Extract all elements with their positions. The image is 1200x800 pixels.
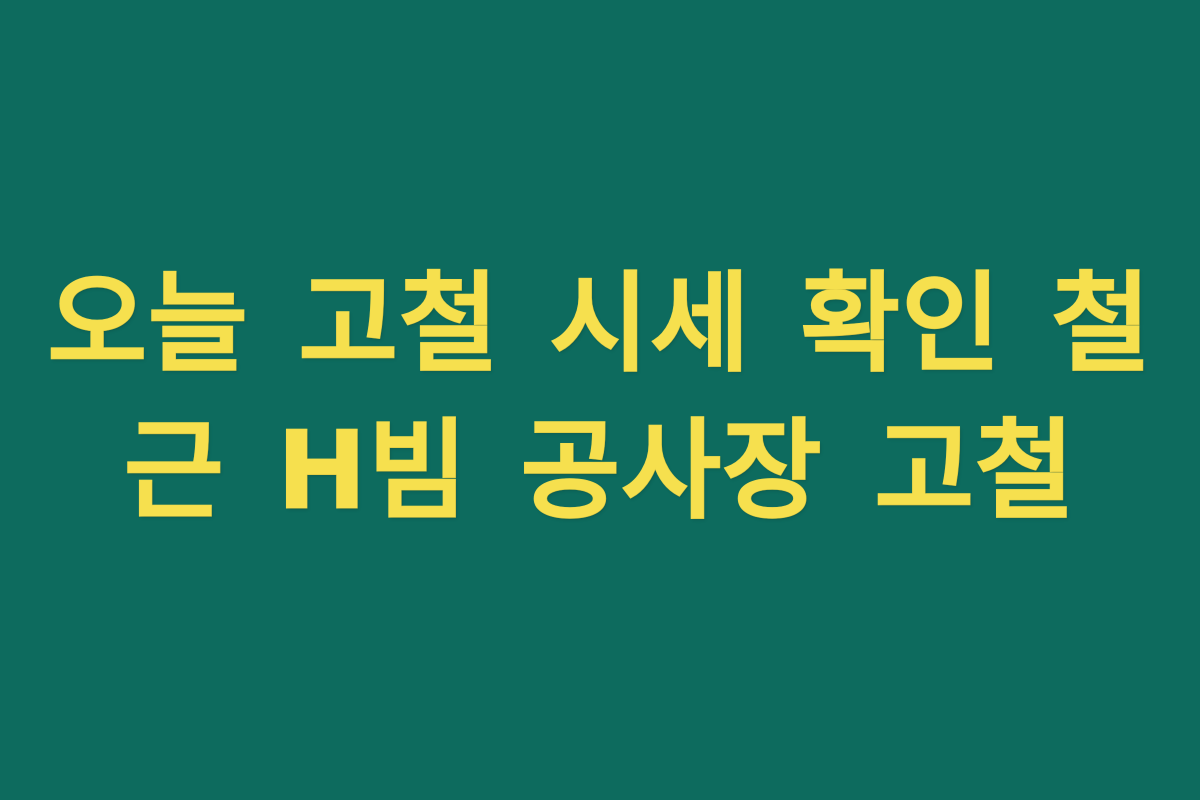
- headline-line-2: 근 H빔 공사장 고철: [124, 399, 1076, 544]
- headline-line-1: 오늘 고철 시세 확인 철: [48, 252, 1153, 397]
- page-title: 오늘 고철 시세 확인 철 근 H빔 공사장 고철: [0, 255, 1200, 545]
- banner-canvas: 오늘 고철 시세 확인 철 근 H빔 공사장 고철: [0, 0, 1200, 800]
